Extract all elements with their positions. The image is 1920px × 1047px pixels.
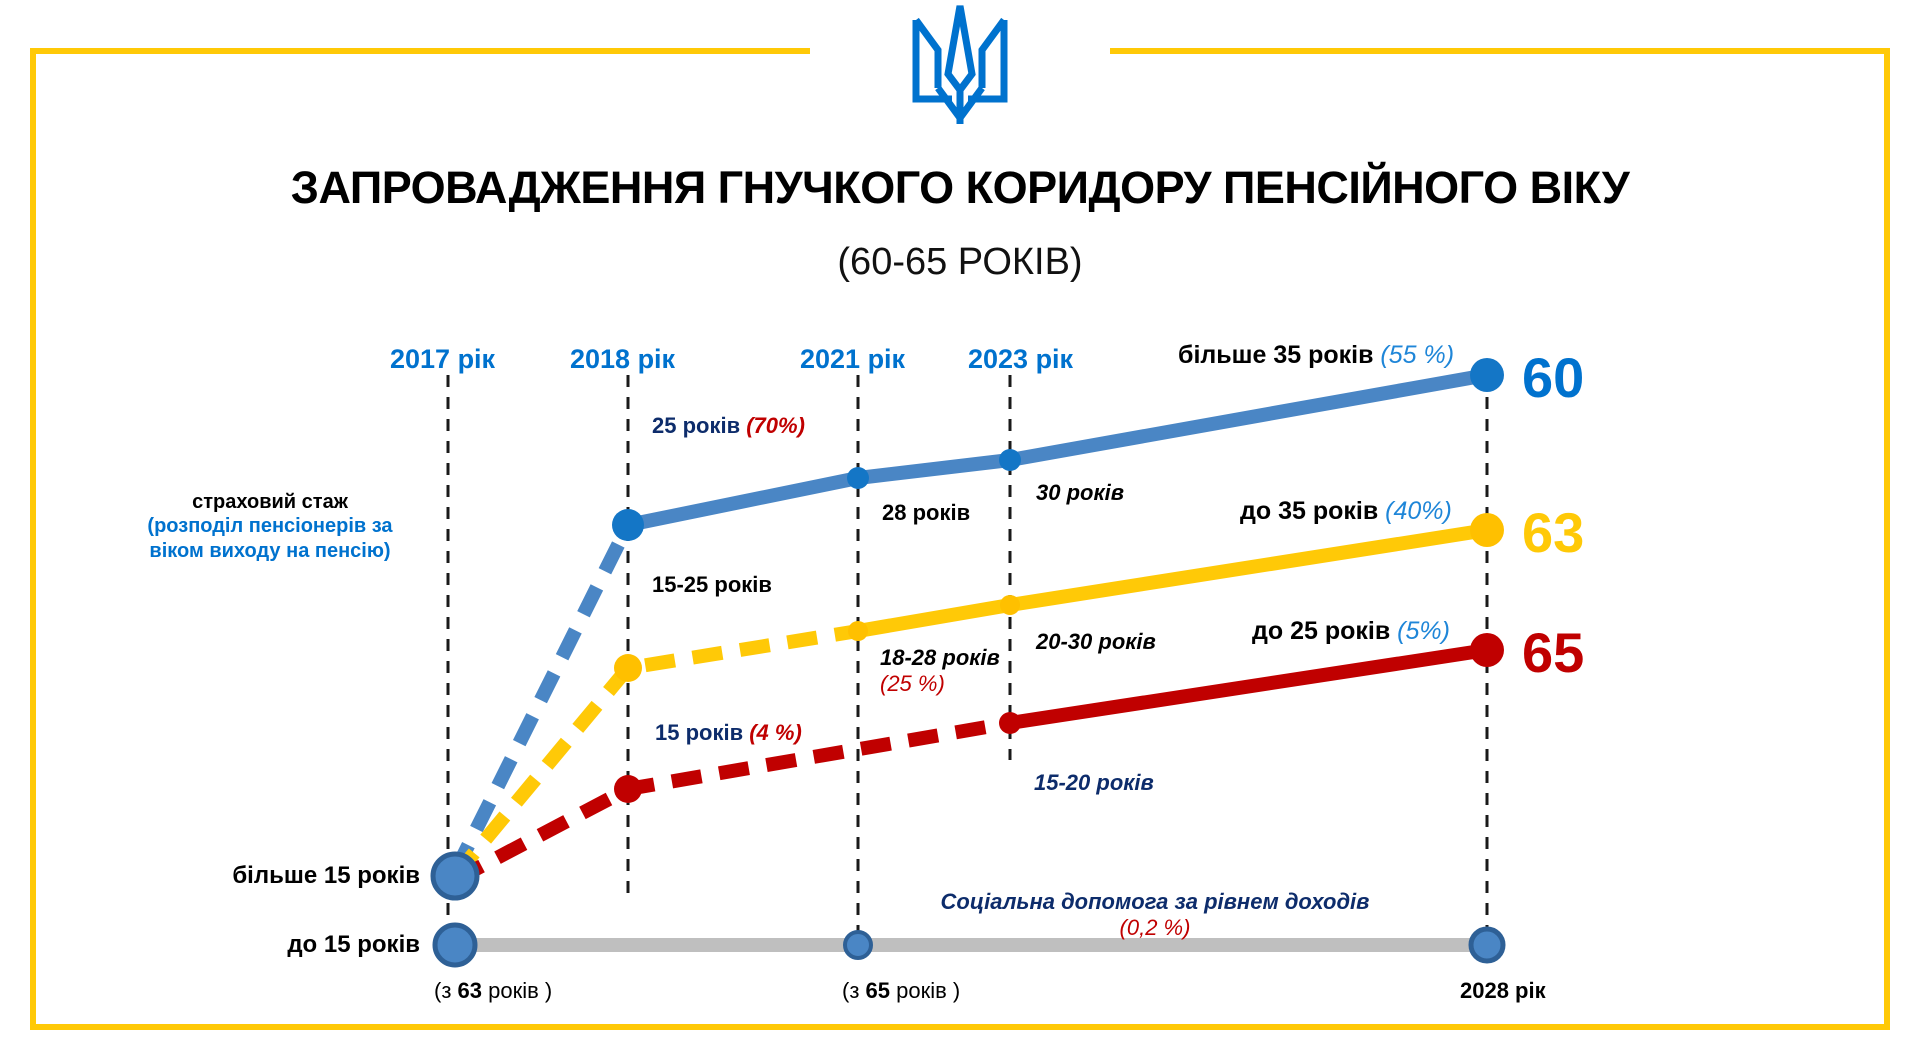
row-label-up-to-15: до 15 років (160, 931, 420, 959)
segment-label-red-15-20: 15-20 років (1034, 770, 1154, 796)
segment-label-blue-2018-text: 25 років (652, 413, 746, 438)
data-point-yellow-2023 (1000, 595, 1020, 615)
data-point-blue-2028 (1470, 358, 1504, 392)
year-label-2023: 2023 рік (968, 344, 1073, 375)
y-axis-title-line3: віком виходу на пенсію) (120, 539, 420, 563)
data-point-gray-2017 (435, 925, 475, 965)
segment-label-yellow-20-30: 20-30 років (1036, 629, 1156, 655)
y-axis-title-line2: (розподіл пенсіонерів за (120, 514, 420, 538)
segment-label-red-15-pct: (4 %) (749, 720, 802, 745)
footnote-from-63-value: 63 (458, 978, 482, 1003)
series-line-red-solid (1010, 650, 1487, 723)
segment-label-blue-28: 28 років (882, 500, 970, 526)
series-line-red-dashed (455, 723, 1010, 880)
footnote-from-65: (з 65 років ) (842, 978, 960, 1004)
social-assistance-note: Соціальна допомога за рівнем доходів (0,… (925, 889, 1385, 941)
segment-label-yellow-18-28: 18-28 років (25 %) (880, 645, 1000, 697)
segment-label-blue-30: 30 років (1036, 480, 1124, 506)
segment-label-red-15: 15 років (4 %) (655, 720, 802, 746)
row-label-more-than-15: більше 15 років (160, 862, 420, 890)
data-point-yellow-2018 (614, 654, 642, 682)
y-axis-title: страховий стаж (розподіл пенсіонерів за … (120, 490, 420, 563)
series-line-yellow-solid (858, 530, 1487, 631)
y-axis-title-line1: страховий стаж (120, 490, 420, 514)
series-line-blue-dashed (455, 525, 628, 872)
retirement-age-60: 60 (1522, 350, 1584, 406)
end-label-red-text: до 25 років (1252, 617, 1397, 645)
data-point-yellow-2028 (1470, 513, 1504, 547)
end-label-yellow: до 35 років (40%) (1240, 497, 1452, 526)
segment-label-blue-2018: 25 років (70%) (652, 413, 805, 439)
end-label-blue-text: більше 35 років (1178, 341, 1380, 369)
footnote-from-65-prefix: (з (842, 978, 866, 1003)
retirement-age-63: 63 (1522, 505, 1584, 561)
footnote-from-63-suffix: років ) (482, 978, 552, 1003)
segment-label-red-15-text: 15 років (655, 720, 749, 745)
segment-label-blue-15-25: 15-25 років (652, 572, 772, 598)
segment-label-yellow-18-28-text: 18-28 років (880, 645, 1000, 671)
data-point-gray-2028 (1471, 929, 1503, 961)
year-label-2018: 2018 рік (570, 344, 675, 375)
end-label-red-pct: (5%) (1397, 617, 1450, 645)
data-point-blue-2021 (847, 467, 869, 489)
end-label-blue: більше 35 років (55 %) (1178, 341, 1454, 370)
year-label-2017: 2017 рік (390, 344, 495, 375)
data-point-red-2018 (614, 775, 642, 803)
footnote-from-63-prefix: (з (434, 978, 458, 1003)
year-label-2028: 2028 рік (1460, 978, 1546, 1004)
end-label-red: до 25 років (5%) (1252, 617, 1450, 646)
data-point-red-2023 (999, 712, 1021, 734)
data-point-blue-2023 (999, 449, 1021, 471)
footnote-from-65-suffix: років ) (890, 978, 960, 1003)
year-label-2021: 2021 рік (800, 344, 905, 375)
segment-label-blue-2018-pct: (70%) (746, 413, 805, 438)
footnote-from-65-value: 65 (866, 978, 890, 1003)
footnote-from-63: (з 63 років ) (434, 978, 552, 1004)
series-line-yellow-dashed (455, 631, 858, 876)
end-label-yellow-pct: (40%) (1385, 497, 1452, 525)
end-label-yellow-text: до 35 років (1240, 497, 1385, 525)
data-point-yellow-2021 (848, 621, 868, 641)
data-point-origin-2017 (433, 854, 477, 898)
data-point-blue-2018 (612, 509, 644, 541)
segment-label-yellow-18-28-pct: (25 %) (880, 671, 1000, 697)
social-assistance-note-line2: (0,2 %) (925, 915, 1385, 941)
social-assistance-note-line1: Соціальна допомога за рівнем доходів (925, 889, 1385, 915)
data-point-red-2028 (1470, 633, 1504, 667)
retirement-age-65: 65 (1522, 625, 1584, 681)
data-point-gray-2021 (845, 932, 871, 958)
end-label-blue-pct: (55 %) (1380, 341, 1454, 369)
